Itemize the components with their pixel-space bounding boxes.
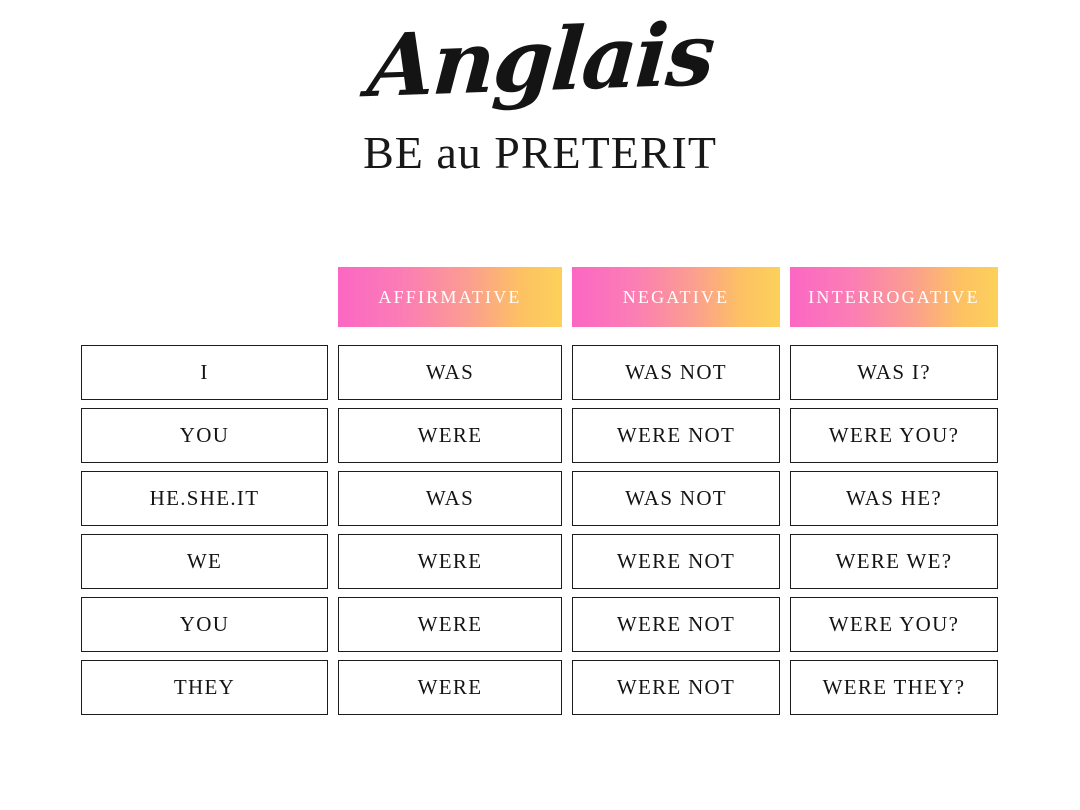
cell-negative: WERE NOT bbox=[572, 534, 780, 589]
cell-pronoun: THEY bbox=[81, 660, 328, 715]
table-row: THEY WERE WERE NOT WERE THEY? bbox=[81, 660, 998, 715]
table-row: HE.SHE.IT WAS WAS NOT WAS HE? bbox=[81, 471, 998, 526]
cell-negative: WAS NOT bbox=[572, 471, 780, 526]
page-title: Anglais bbox=[365, 12, 716, 110]
cell-affirmative: WERE bbox=[338, 597, 562, 652]
table-header-row: AFFIRMATIVE NEGATIVE INTERROGATIVE bbox=[81, 267, 998, 327]
cell-pronoun: YOU bbox=[81, 597, 328, 652]
table-row: I WAS WAS NOT WAS I? bbox=[81, 345, 998, 400]
conjugation-table: AFFIRMATIVE NEGATIVE INTERROGATIVE I WAS… bbox=[81, 267, 998, 723]
table-row: YOU WERE WERE NOT WERE YOU? bbox=[81, 408, 998, 463]
cell-negative: WERE NOT bbox=[572, 660, 780, 715]
cell-interrogative: WAS I? bbox=[790, 345, 998, 400]
page-subtitle: BE au PRETERIT bbox=[0, 130, 1080, 176]
cell-negative: WERE NOT bbox=[572, 408, 780, 463]
header-cell-negative: NEGATIVE bbox=[572, 267, 780, 327]
table-row: WE WERE WERE NOT WERE WE? bbox=[81, 534, 998, 589]
cell-pronoun: WE bbox=[81, 534, 328, 589]
cell-pronoun: HE.SHE.IT bbox=[81, 471, 328, 526]
title-block: Anglais BE au PRETERIT bbox=[0, 0, 1080, 176]
cell-affirmative: WERE bbox=[338, 660, 562, 715]
cell-interrogative: WERE WE? bbox=[790, 534, 998, 589]
cell-pronoun: YOU bbox=[81, 408, 328, 463]
header-cell-affirmative: AFFIRMATIVE bbox=[338, 267, 562, 327]
cell-interrogative: WAS HE? bbox=[790, 471, 998, 526]
cell-interrogative: WERE THEY? bbox=[790, 660, 998, 715]
cell-affirmative: WAS bbox=[338, 345, 562, 400]
cell-negative: WERE NOT bbox=[572, 597, 780, 652]
cell-affirmative: WERE bbox=[338, 534, 562, 589]
table-row: YOU WERE WERE NOT WERE YOU? bbox=[81, 597, 998, 652]
cell-negative: WAS NOT bbox=[572, 345, 780, 400]
cell-pronoun: I bbox=[81, 345, 328, 400]
cell-interrogative: WERE YOU? bbox=[790, 408, 998, 463]
header-cell-empty bbox=[81, 267, 328, 327]
cell-affirmative: WAS bbox=[338, 471, 562, 526]
cell-interrogative: WERE YOU? bbox=[790, 597, 998, 652]
worksheet-page: Anglais BE au PRETERIT AFFIRMATIVE NEGAT… bbox=[0, 0, 1080, 810]
cell-affirmative: WERE bbox=[338, 408, 562, 463]
header-cell-interrogative: INTERROGATIVE bbox=[790, 267, 998, 327]
